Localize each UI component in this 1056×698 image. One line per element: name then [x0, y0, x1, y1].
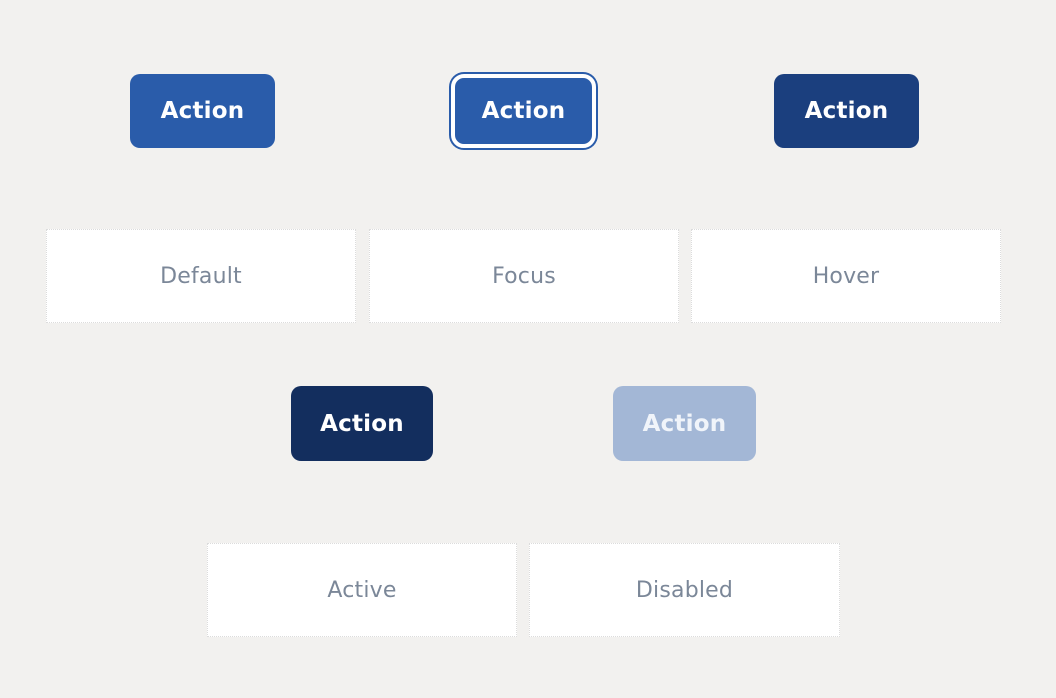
- caption-card-default: Default: [46, 229, 356, 323]
- action-button-focus[interactable]: Action: [451, 74, 596, 148]
- caption-card-focus: Focus: [369, 229, 679, 323]
- caption-label-active: Active: [327, 578, 396, 603]
- caption-label-hover: Hover: [813, 264, 880, 289]
- caption-label-default: Default: [160, 264, 242, 289]
- caption-card-hover: Hover: [691, 229, 1001, 323]
- caption-label-focus: Focus: [492, 264, 556, 289]
- caption-card-active: Active: [207, 543, 517, 637]
- action-button-default[interactable]: Action: [130, 74, 275, 148]
- caption-card-disabled: Disabled: [529, 543, 840, 637]
- action-button-hover[interactable]: Action: [774, 74, 919, 148]
- button-state-gallery: Action Action Action Default Focus Hover…: [0, 0, 1056, 698]
- action-button-active[interactable]: Action: [291, 386, 433, 461]
- action-button-disabled: Action: [613, 386, 756, 461]
- caption-label-disabled: Disabled: [636, 578, 733, 603]
